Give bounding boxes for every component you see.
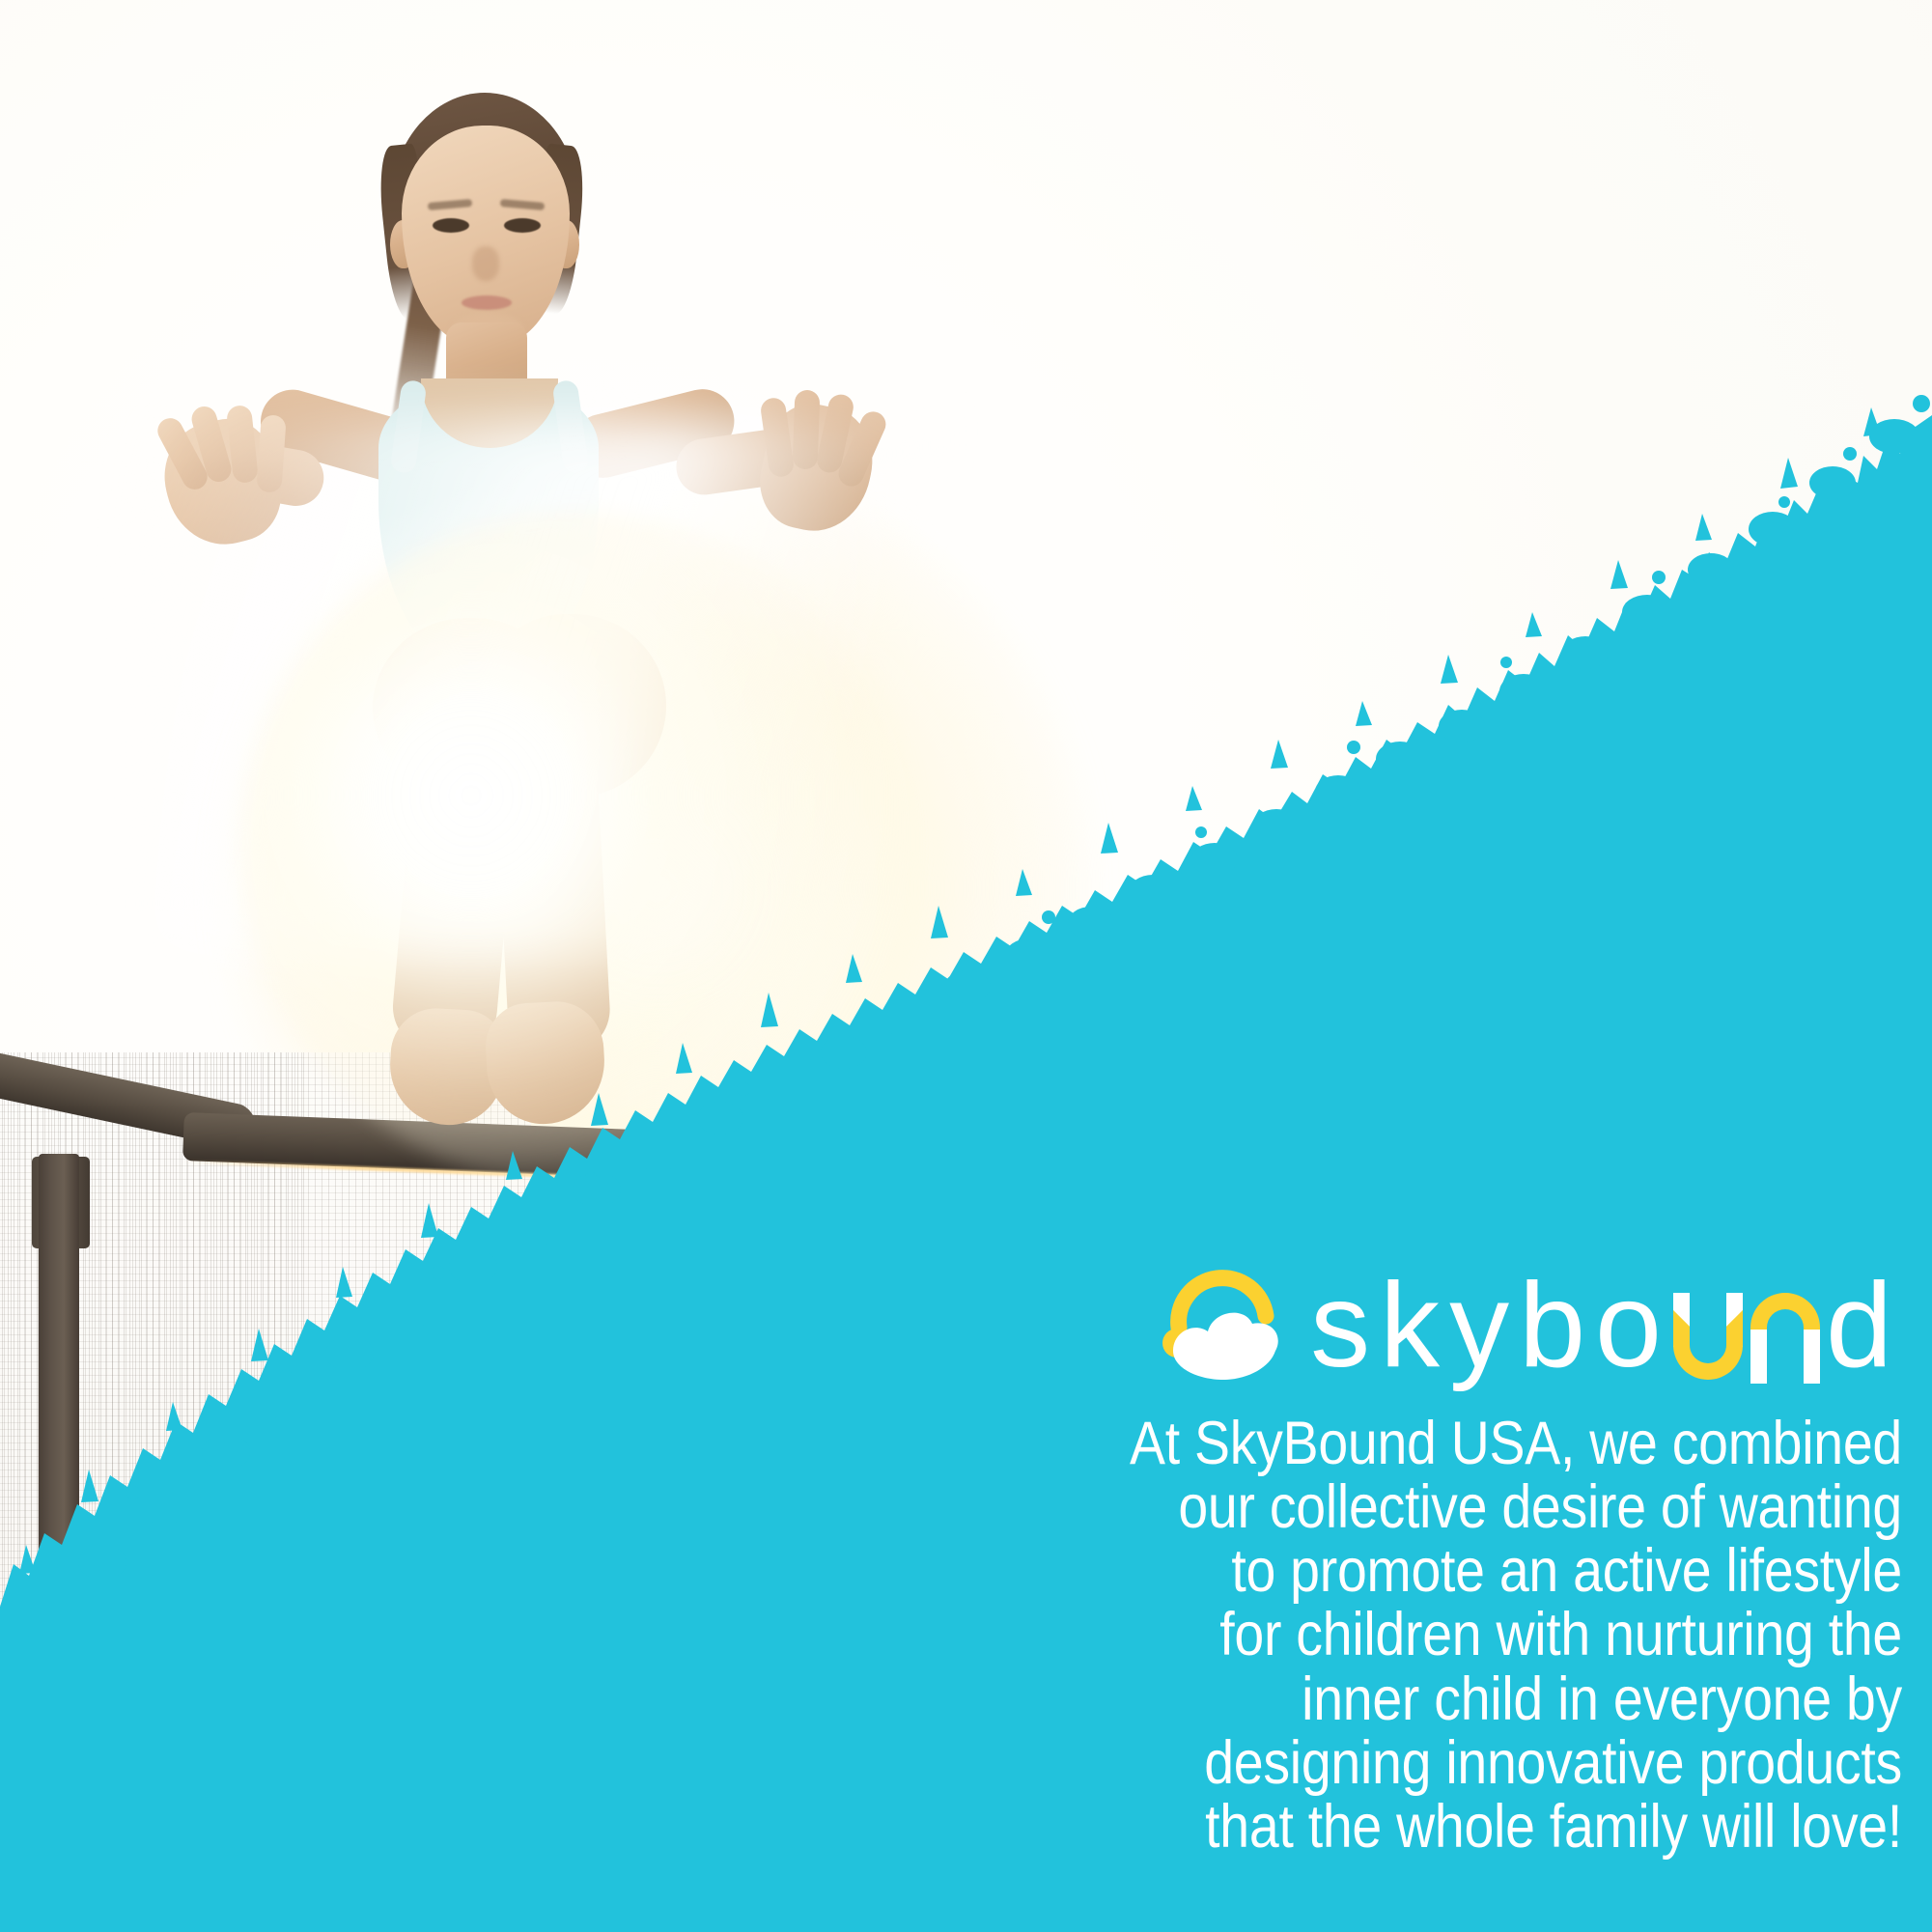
skybound-wordmark: skybo d: [1310, 1266, 1902, 1389]
nose: [472, 246, 499, 281]
wordmark-segment-1: skybo: [1310, 1266, 1671, 1386]
finger-left-4: [256, 414, 287, 493]
skybound-sun-cloud-icon: [1162, 1268, 1285, 1387]
foot-right: [484, 999, 607, 1127]
girl-figure: [0, 0, 1062, 1371]
brand-block: skybo d At SkyBound USA, we combined our…: [830, 1265, 1902, 1859]
mouth: [462, 295, 512, 310]
wordmark-letter-n: [1749, 1293, 1822, 1386]
background-rooftop-finial: [1491, 699, 1516, 716]
wordmark-segment-2: d: [1826, 1266, 1902, 1386]
eye-right: [504, 218, 541, 233]
eye-left: [433, 218, 469, 233]
finger-right-2: [793, 390, 821, 470]
wordmark-letter-u: [1671, 1293, 1745, 1386]
tagline-text: At SkyBound USA, we combined our collect…: [959, 1412, 1902, 1859]
logo-row: skybo d: [830, 1265, 1902, 1390]
promotional-banner: skybo d At SkyBound USA, we combined our…: [0, 0, 1932, 1932]
